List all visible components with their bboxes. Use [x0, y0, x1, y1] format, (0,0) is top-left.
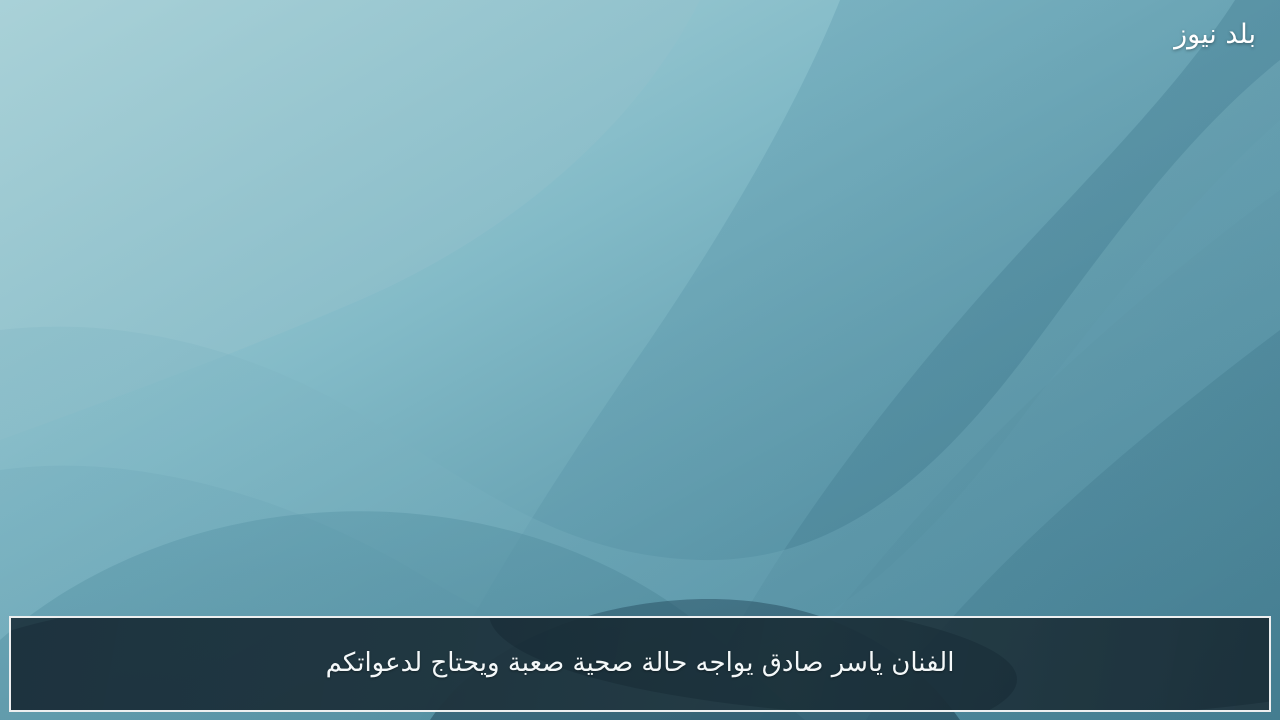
caption-headline: الفنان ياسر صادق يواجه حالة صحية صعبة وي…	[308, 646, 973, 681]
channel-logo-watermark: بلد نيوز	[1174, 20, 1256, 50]
video-frame: بلد نيوز الفنان ياسر صادق يواجه حالة صحي…	[0, 0, 1280, 720]
background-wave-svg	[0, 0, 1280, 720]
caption-bar: الفنان ياسر صادق يواجه حالة صحية صعبة وي…	[9, 616, 1271, 712]
background-waves	[0, 0, 1280, 720]
